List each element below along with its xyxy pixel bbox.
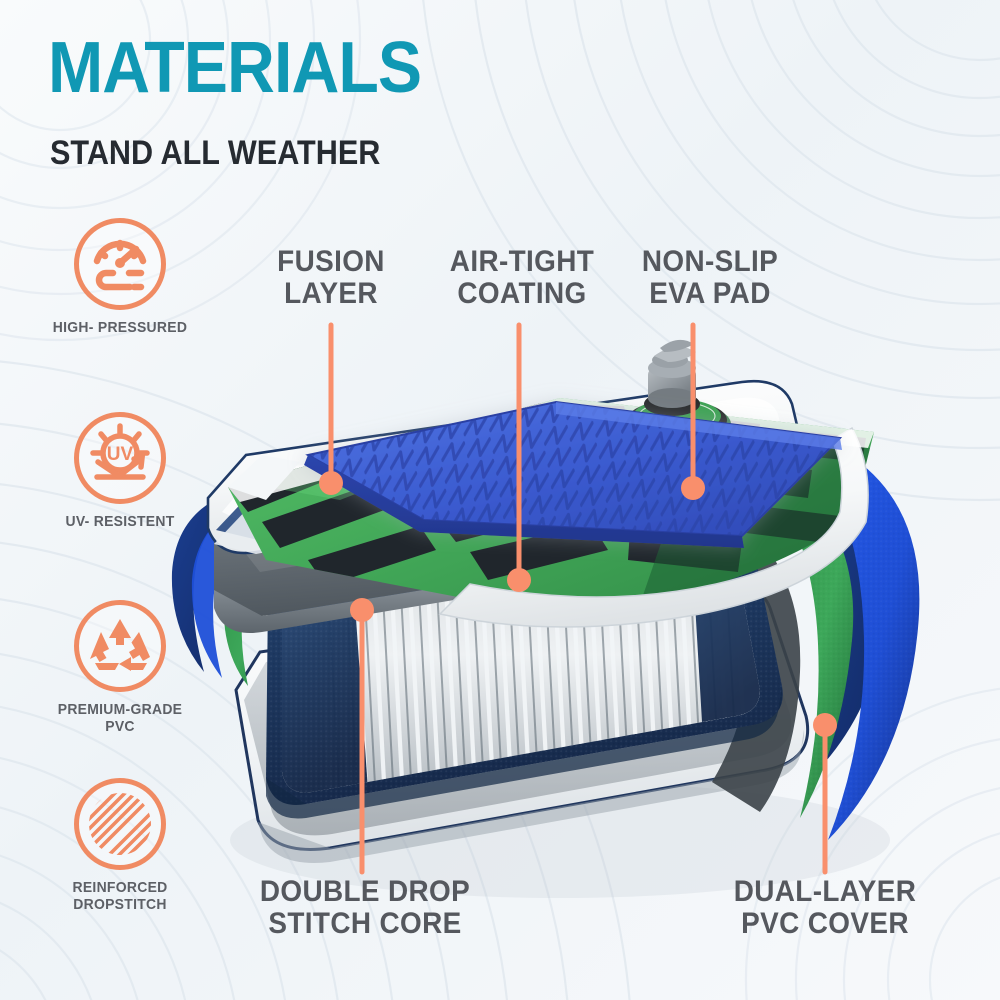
callout-non-slip-eva-pad: NON-SLIP EVA PAD	[626, 246, 793, 310]
svg-text:UV: UV	[107, 444, 134, 465]
badge-ring-premium-grade-pvc	[74, 600, 166, 692]
gauge-icon	[79, 223, 161, 305]
callout-fusion-layer: FUSION LAYER	[252, 246, 410, 310]
page-title: MATERIALS	[48, 32, 421, 104]
feature-premium-grade-pvc: PREMIUM-GRADE PVC	[40, 600, 200, 736]
callout-dual-layer-pvc-cover: DUAL-LAYER PVC COVER	[709, 876, 942, 940]
badge-ring-reinforced-dropstitch	[74, 778, 166, 870]
callout-air-tight-coating: AIR-TIGHT COATING	[431, 246, 613, 310]
callout-double-drop-stitch-core: DOUBLE DROP STITCH CORE	[252, 876, 477, 940]
page-subtitle: STAND ALL WEATHER	[50, 136, 380, 170]
feature-high-pressured: HIGH- PRESSURED	[40, 218, 200, 337]
feature-uv-resistent: UV UV- RESISTENT	[40, 412, 200, 531]
feature-label: PREMIUM-GRADE PVC	[46, 702, 195, 736]
feature-reinforced-dropstitch: REINFORCED DROPSTITCH	[40, 778, 200, 914]
feature-label: REINFORCED DROPSTITCH	[46, 880, 195, 914]
badge-ring-high-pressured	[74, 218, 166, 310]
feature-label: UV- RESISTENT	[46, 514, 195, 531]
badge-ring-uv-resistent: UV	[74, 412, 166, 504]
uv-sun-icon: UV	[79, 417, 161, 499]
infographic-canvas: MATERIALS STAND ALL WEATHER HIGH- PRESSU…	[0, 0, 1000, 1000]
recycle-icon	[79, 605, 161, 687]
feature-label: HIGH- PRESSURED	[46, 320, 195, 337]
hatch-circle-icon	[79, 783, 161, 865]
